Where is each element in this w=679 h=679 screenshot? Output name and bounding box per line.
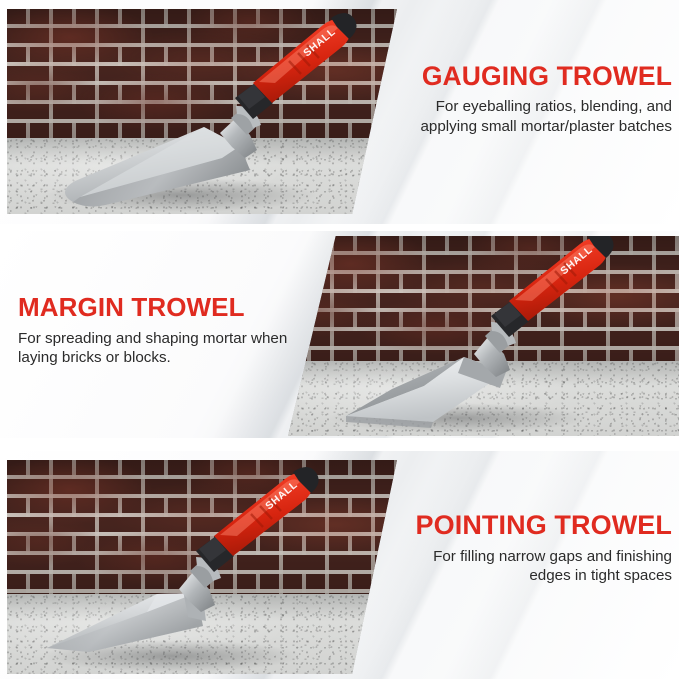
- infographic-page: SHALL GAUGING TROWEL For eyeballing rati…: [0, 0, 679, 679]
- panel-margin-trowel: SHALL MARGIN TROWEL For spreading and sh…: [0, 231, 679, 438]
- text-block-gauging: GAUGING TROWEL For eyeballing ratios, bl…: [388, 62, 672, 137]
- headline-margin: MARGIN TROWEL: [18, 294, 294, 322]
- product-photo-pointing: SHALL: [7, 460, 397, 674]
- pointing-trowel-illustration: SHALL: [7, 460, 397, 674]
- headline-pointing: POINTING TROWEL: [388, 511, 672, 540]
- panel-pointing-trowel: SHALL POINTING TROWEL For filling narrow…: [0, 451, 679, 679]
- gauging-trowel-illustration: SHALL: [7, 9, 397, 214]
- headline-gauging: GAUGING TROWEL: [388, 62, 672, 90]
- margin-trowel-illustration: SHALL: [288, 236, 679, 436]
- description-margin: For spreading and shaping mortar when la…: [18, 329, 294, 369]
- description-pointing: For filling narrow gaps and finishing ed…: [388, 547, 672, 587]
- text-block-margin: MARGIN TROWEL For spreading and shaping …: [18, 294, 294, 368]
- description-gauging: For eyeballing ratios, blending, and app…: [388, 97, 672, 137]
- product-photo-margin: SHALL: [288, 236, 679, 436]
- panel-gauging-trowel: SHALL GAUGING TROWEL For eyeballing rati…: [0, 0, 679, 224]
- text-block-pointing: POINTING TROWEL For filling narrow gaps …: [388, 511, 672, 586]
- product-photo-gauging: SHALL: [7, 9, 397, 214]
